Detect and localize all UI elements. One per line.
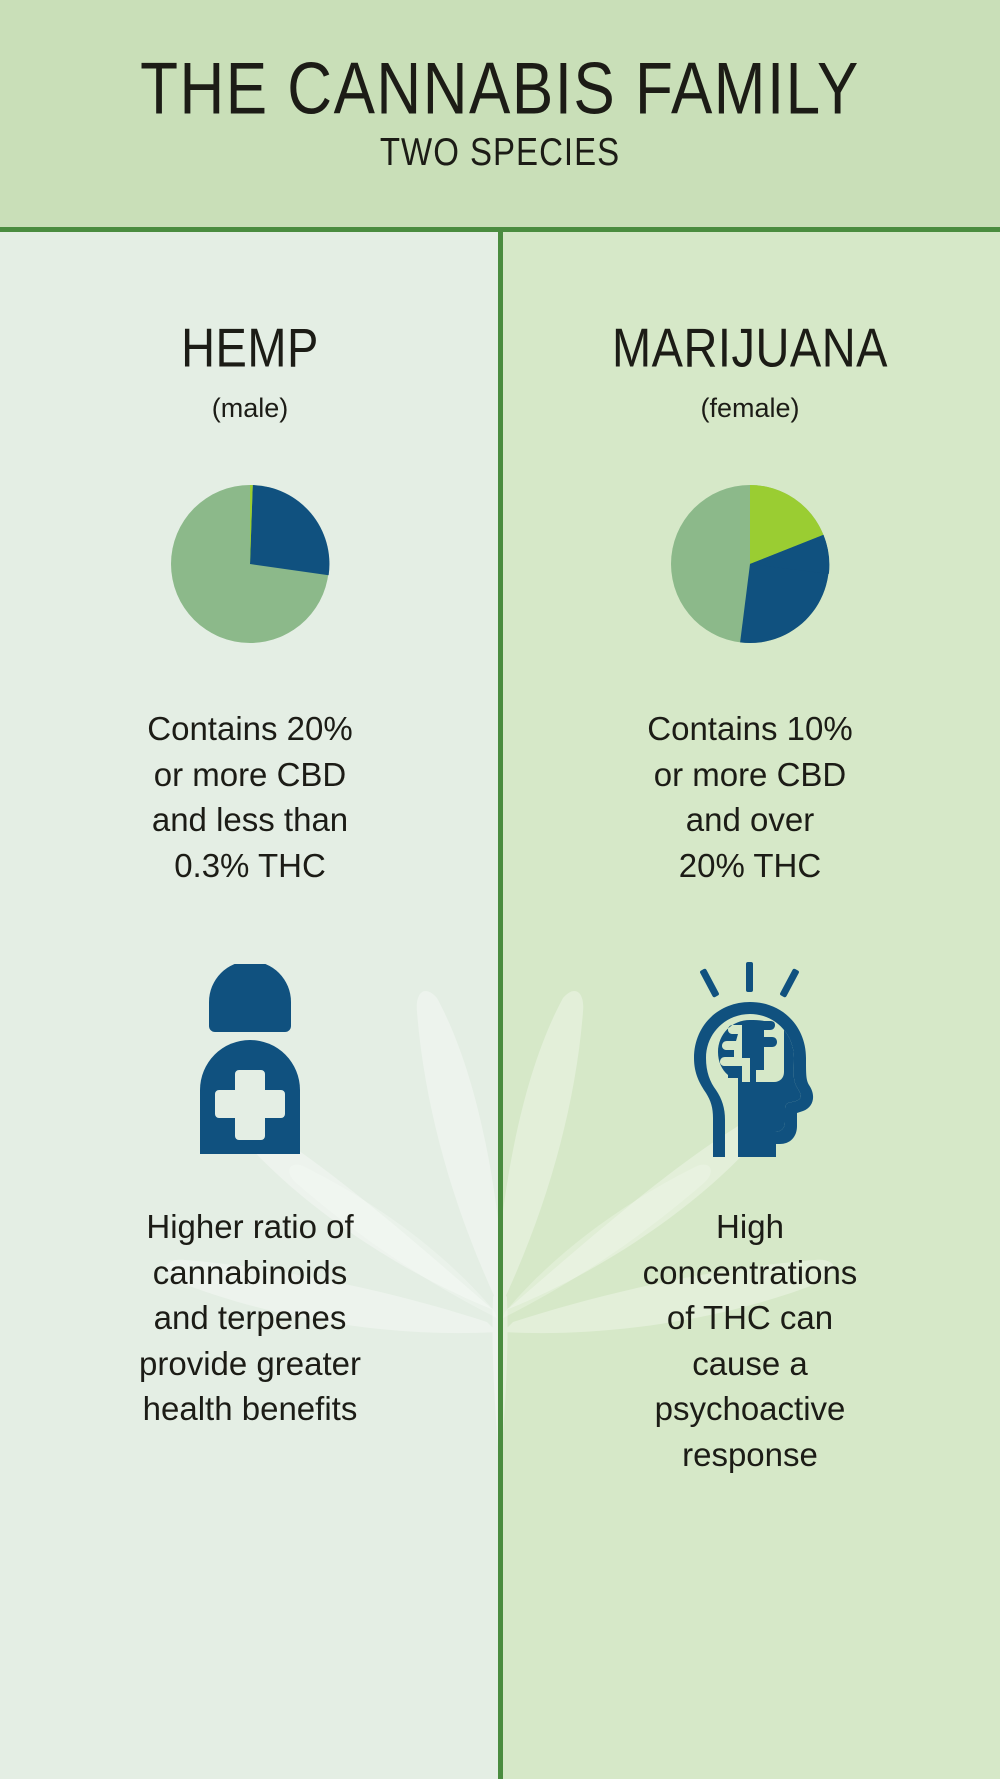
hemp-pie-chart bbox=[170, 484, 330, 644]
marijuana-pie-chart bbox=[670, 484, 830, 644]
marijuana-icon-container bbox=[680, 964, 820, 1154]
marijuana-description-bottom: High concentrations of THC can cause a p… bbox=[643, 1204, 858, 1477]
comparison-body: HEMP (male) Contains 20% or more CBD and… bbox=[0, 232, 1000, 1779]
column-hemp: HEMP (male) Contains 20% or more CBD and… bbox=[0, 232, 500, 1779]
marijuana-subtitle: (female) bbox=[700, 395, 799, 422]
hemp-description-top: Contains 20% or more CBD and less than 0… bbox=[147, 706, 352, 888]
cannabis-family-infographic: THE CANNABIS FAMILY TWO SPECIES bbox=[0, 0, 1000, 1779]
header-banner: THE CANNABIS FAMILY TWO SPECIES bbox=[0, 0, 1000, 232]
hemp-subtitle: (male) bbox=[212, 395, 289, 422]
hemp-title: HEMP bbox=[181, 320, 319, 375]
marijuana-description-top: Contains 10% or more CBD and over 20% TH… bbox=[647, 706, 852, 888]
marijuana-title: MARIJUANA bbox=[612, 320, 888, 375]
medicine-bottle-icon bbox=[187, 964, 313, 1154]
hemp-description-bottom: Higher ratio of cannabinoids and terpene… bbox=[139, 1204, 361, 1432]
brain-head-icon bbox=[680, 962, 820, 1157]
hemp-icon-container bbox=[187, 964, 313, 1154]
column-divider bbox=[498, 232, 503, 1779]
column-marijuana: MARIJUANA (female) Contains 10% or more … bbox=[500, 232, 1000, 1779]
page-subtitle: TWO SPECIES bbox=[380, 132, 620, 171]
page-title: THE CANNABIS FAMILY bbox=[140, 53, 860, 126]
